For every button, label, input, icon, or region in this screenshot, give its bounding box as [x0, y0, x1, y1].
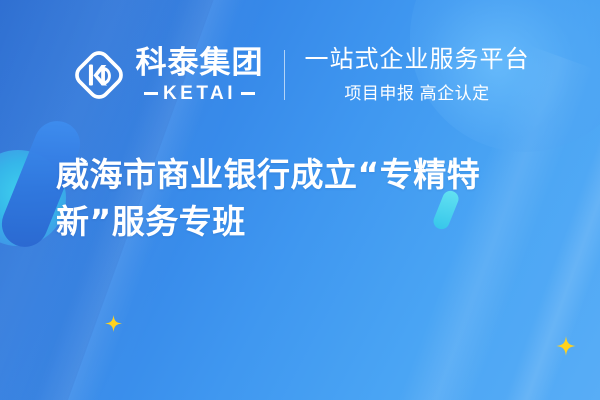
slogan-group: 一站式企业服务平台 项目申报 高企认定: [305, 46, 530, 103]
page-title: 威海市商业银行成立“专精特新”服务专班: [56, 152, 556, 246]
banner-header: 科泰集团 KETAI 一站式企业服务平台 项目申报 高企认定: [0, 34, 600, 116]
brand-name-en: KETAI: [163, 84, 236, 103]
slogan-secondary: 项目申报 高企认定: [305, 79, 530, 104]
brand-logo: 科泰集团 KETAI: [71, 47, 264, 103]
promo-banner: 科泰集团 KETAI 一站式企业服务平台 项目申报 高企认定 威海市商业银行成立…: [0, 0, 600, 400]
brand-name-cn: 科泰集团: [136, 48, 264, 79]
brand-wordmark: 科泰集团 KETAI: [136, 48, 264, 103]
ketai-monogram-logo-icon: [71, 47, 127, 103]
sparkle-star-icon: [556, 336, 576, 356]
dash-right-decoration: [241, 92, 255, 95]
dash-left-decoration: [144, 92, 158, 95]
slogan-primary: 一站式企业服务平台: [305, 46, 530, 74]
sparkle-star-icon: [105, 315, 122, 332]
brand-name-en-row: KETAI: [136, 84, 264, 103]
header-divider: [284, 50, 285, 100]
